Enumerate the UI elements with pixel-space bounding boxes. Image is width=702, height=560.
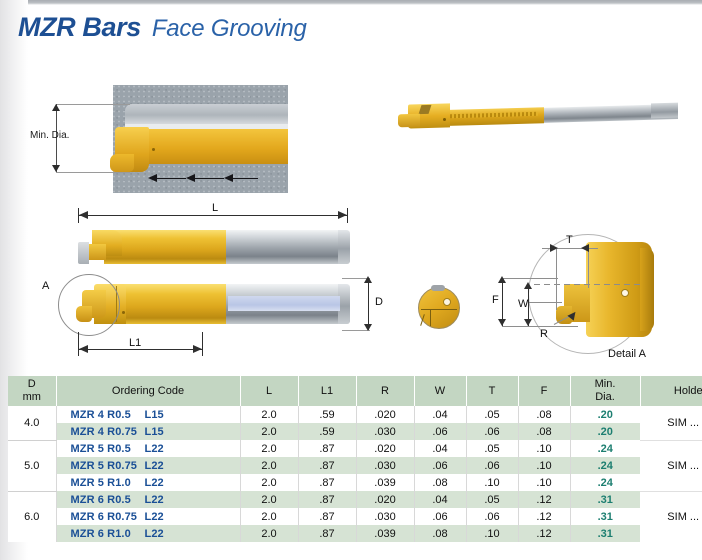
detail-T-ext-left <box>556 248 557 310</box>
cell-w: .04 <box>414 440 466 457</box>
table-row[interactable]: 4.0MZR 4 R0.5L152.0.59.020.04.05.08.20SI… <box>8 406 702 423</box>
dimension-L1: L1 <box>78 332 203 358</box>
ordering-code-name: MZR 6 R1.0 <box>71 528 145 540</box>
table-row[interactable]: MZR 4 R0.75L152.0.59.030.06.06.08.20 <box>8 423 702 440</box>
column-header-f: F <box>518 376 570 406</box>
column-header-l: L <box>240 376 298 406</box>
cell-t: .06 <box>466 508 518 525</box>
cell-l: 2.0 <box>240 406 298 423</box>
figure-bar-views: L <box>10 202 370 367</box>
figure-product-photo <box>398 90 678 138</box>
cell-l1: .87 <box>298 440 356 457</box>
table-header-row: D mm Ordering Code L L1 R W T F Min. Dia <box>8 376 702 406</box>
detail-W-label: W <box>518 298 528 310</box>
ordering-code-name: MZR 4 R0.5 <box>71 409 145 421</box>
cell-t: .10 <box>466 474 518 491</box>
cell-t: .06 <box>466 423 518 440</box>
column-header-min-dia-line1: Min. <box>571 378 640 391</box>
figure-detail-a: T F W R Detail A <box>490 232 690 367</box>
detail-centerline <box>534 284 644 285</box>
detail-W-ext <box>528 302 562 303</box>
ordering-code-name: MZR 5 R0.75 <box>71 460 145 472</box>
cell-r: .020 <box>356 491 414 508</box>
cell-f: .08 <box>518 423 570 440</box>
cell-min-dia: .24 <box>570 457 640 474</box>
arrow-right-icon <box>550 244 558 252</box>
tool-shank <box>135 129 288 164</box>
cell-l: 2.0 <box>240 491 298 508</box>
cell-l: 2.0 <box>240 440 298 457</box>
detail-coolant-hole <box>621 289 629 297</box>
end-view-edge-line <box>421 309 457 310</box>
column-header-d-line1: D <box>8 378 56 391</box>
arrow-down-icon <box>498 319 506 326</box>
cell-w: .04 <box>414 491 466 508</box>
detail-F-ext-bottom <box>502 326 578 327</box>
cell-ordering-code[interactable]: MZR 5 R0.5L22 <box>56 440 240 457</box>
cell-w: .08 <box>414 525 466 542</box>
table-row[interactable]: 6.0MZR 6 R0.5L222.0.87.020.04.05.12.31SI… <box>8 491 702 508</box>
cell-f: .10 <box>518 457 570 474</box>
spec-table: D mm Ordering Code L L1 R W T F Min. Dia <box>8 376 702 542</box>
detail-F-label: F <box>492 294 499 306</box>
cell-t: .05 <box>466 491 518 508</box>
table-row[interactable]: MZR 6 R1.0L222.0.87.039.08.10.12.31 <box>8 525 702 542</box>
bar-coolant-channel <box>228 296 340 311</box>
cell-t: .10 <box>466 525 518 542</box>
dimension-L1-label: L1 <box>126 337 144 349</box>
title-main: MZR Bars <box>18 12 141 43</box>
cell-f: .08 <box>518 406 570 423</box>
cell-l1: .87 <box>298 508 356 525</box>
arrow-up-icon <box>52 104 60 111</box>
cell-l1: .87 <box>298 474 356 491</box>
tool-screw-dot <box>152 148 155 151</box>
cell-min-dia: .31 <box>570 491 640 508</box>
ordering-code-name: MZR 6 R0.75 <box>71 511 145 523</box>
cell-l1: .87 <box>298 525 356 542</box>
cell-t: .06 <box>466 457 518 474</box>
ordering-code-name: MZR 4 R0.75 <box>71 426 145 438</box>
cell-f: .10 <box>518 474 570 491</box>
cell-r: .020 <box>356 440 414 457</box>
figure-cross-section: Min. Dia. <box>30 82 300 197</box>
cell-l: 2.0 <box>240 423 298 440</box>
photo-screw-dot <box>443 118 446 121</box>
detail-a-caption: Detail A <box>608 348 646 360</box>
bar-upper-shank-end <box>338 230 350 264</box>
column-header-w: W <box>414 376 466 406</box>
cell-w: .06 <box>414 423 466 440</box>
cell-f: .12 <box>518 508 570 525</box>
tool-nose <box>110 154 134 172</box>
cell-diameter: 6.0 <box>8 491 56 542</box>
specification-table: D mm Ordering Code L L1 R W T F Min. Dia <box>8 376 694 542</box>
column-header-r: R <box>356 376 414 406</box>
bar-upper-shank <box>223 230 350 264</box>
ordering-code-length: L22 <box>145 460 164 472</box>
top-edge-strip <box>0 0 702 5</box>
bar-upper-view <box>78 230 350 264</box>
ordering-code-length: L22 <box>145 443 164 455</box>
column-header-t: T <box>466 376 518 406</box>
detail-R-label: R <box>540 328 548 340</box>
end-view-coolant-hole <box>443 298 451 306</box>
figures-area: Min. Dia. <box>0 62 702 372</box>
dimension-extension-bottom <box>56 172 130 173</box>
ordering-code-length: L22 <box>145 528 164 540</box>
ordering-code-length: L22 <box>145 494 164 506</box>
cell-ordering-code[interactable]: MZR 6 R1.0L22 <box>56 525 240 542</box>
table-row[interactable]: 5.0MZR 5 R0.5L222.0.87.020.04.05.10.24SI… <box>8 440 702 457</box>
column-header-min-dia: Min. Dia. <box>570 376 640 406</box>
cell-f: .10 <box>518 440 570 457</box>
ordering-code-name: MZR 6 R0.5 <box>71 494 145 506</box>
detail-insert-edge <box>640 248 654 331</box>
cell-min-dia: .20 <box>570 406 640 423</box>
arrow-down-icon <box>524 319 532 326</box>
detail-a-label: A <box>42 280 49 292</box>
end-view-body <box>418 287 460 329</box>
cell-ordering-code[interactable]: MZR 4 R0.75L15 <box>56 423 240 440</box>
dimension-D: D <box>342 274 382 334</box>
cell-diameter: 5.0 <box>8 440 56 491</box>
detail-F-ext-top <box>502 278 558 279</box>
cell-w: .04 <box>414 406 466 423</box>
cell-ordering-code[interactable]: MZR 6 R0.5L22 <box>56 491 240 508</box>
title-subtitle: Face Grooving <box>152 15 307 43</box>
workpiece-bore <box>125 104 288 124</box>
detail-T-ext-right <box>588 248 589 288</box>
dimension-D-label: D <box>375 296 383 308</box>
cell-r: .039 <box>356 525 414 542</box>
cell-diameter: 4.0 <box>8 406 56 440</box>
arrow-down-icon <box>52 165 60 172</box>
cell-l1: .87 <box>298 491 356 508</box>
cell-w: .06 <box>414 457 466 474</box>
bar-lower-screw-dot <box>122 311 125 314</box>
end-view-cap <box>431 285 445 291</box>
cell-l: 2.0 <box>240 474 298 491</box>
cell-l: 2.0 <box>240 457 298 474</box>
ordering-code-length: L15 <box>145 409 164 421</box>
cell-ordering-code[interactable]: MZR 4 R0.5L15 <box>56 406 240 423</box>
cell-r: .039 <box>356 474 414 491</box>
table-body: 4.0MZR 4 R0.5L152.0.59.020.04.05.08.20SI… <box>8 406 702 542</box>
cell-l: 2.0 <box>240 508 298 525</box>
table-row[interactable]: MZR 5 R1.0L222.0.87.039.08.10.10.24 <box>8 474 702 491</box>
dimension-L: L <box>78 208 348 222</box>
end-view-face-line <box>430 309 431 326</box>
cell-holder: SIM ... H5 <box>640 440 702 491</box>
cell-f: .12 <box>518 491 570 508</box>
cell-f: .12 <box>518 525 570 542</box>
ordering-code-name: MZR 5 R1.0 <box>71 477 145 489</box>
cell-r: .020 <box>356 406 414 423</box>
cell-r: .030 <box>356 508 414 525</box>
cell-min-dia: .24 <box>570 440 640 457</box>
cell-holder: SIM ... H6 <box>640 491 702 542</box>
cell-ordering-code[interactable]: MZR 5 R1.0L22 <box>56 474 240 491</box>
feed-direction-arrows <box>148 174 258 183</box>
column-header-l1: L1 <box>298 376 356 406</box>
cell-l1: .59 <box>298 423 356 440</box>
cell-r: .030 <box>356 457 414 474</box>
cell-min-dia: .31 <box>570 508 640 525</box>
bar-upper-coated <box>104 230 226 264</box>
cell-r: .030 <box>356 423 414 440</box>
column-header-d: D mm <box>8 376 56 406</box>
arrow-up-icon <box>524 282 532 289</box>
page-title: MZR Bars Face Grooving <box>18 12 307 43</box>
min-dia-label: Min. Dia. <box>30 130 69 141</box>
cell-w: .06 <box>414 508 466 525</box>
column-header-holder: Holder* <box>640 376 702 406</box>
dimension-extension-top <box>56 104 130 105</box>
figure-end-view <box>418 287 462 331</box>
cell-l: 2.0 <box>240 525 298 542</box>
arrow-up-icon <box>498 276 506 283</box>
ordering-code-name: MZR 5 R0.5 <box>71 443 145 455</box>
cell-t: .05 <box>466 406 518 423</box>
bar-upper-tip <box>78 242 89 264</box>
catalog-page: MZR Bars Face Grooving Min. Dia. <box>0 0 702 560</box>
ordering-code-length: L22 <box>145 477 164 489</box>
cell-min-dia: .31 <box>570 525 640 542</box>
photo-cutting-tip <box>398 114 420 128</box>
cell-holder: SIM ... H4 <box>640 406 702 440</box>
photo-shank-end <box>651 103 678 119</box>
ordering-code-length: L22 <box>145 511 164 523</box>
dimension-L-label: L <box>208 202 222 214</box>
cell-l1: .59 <box>298 406 356 423</box>
cell-ordering-code[interactable]: MZR 6 R0.75L22 <box>56 508 240 525</box>
cell-min-dia: .20 <box>570 423 640 440</box>
column-header-min-dia-line2: Dia. <box>571 391 640 404</box>
detail-a-callout-circle <box>58 274 120 336</box>
detail-T-label: T <box>566 234 573 246</box>
cell-t: .05 <box>466 440 518 457</box>
cell-min-dia: .24 <box>570 474 640 491</box>
cell-w: .08 <box>414 474 466 491</box>
column-header-d-line2: mm <box>8 391 56 404</box>
table-row[interactable]: MZR 5 R0.75L222.0.87.030.06.06.10.24 <box>8 457 702 474</box>
table-row[interactable]: MZR 6 R0.75L222.0.87.030.06.06.12.31 <box>8 508 702 525</box>
arrow-left-icon <box>581 244 589 252</box>
cell-l1: .87 <box>298 457 356 474</box>
cell-ordering-code[interactable]: MZR 5 R0.75L22 <box>56 457 240 474</box>
column-header-ordering-code: Ordering Code <box>56 376 240 406</box>
ordering-code-length: L15 <box>145 426 164 438</box>
